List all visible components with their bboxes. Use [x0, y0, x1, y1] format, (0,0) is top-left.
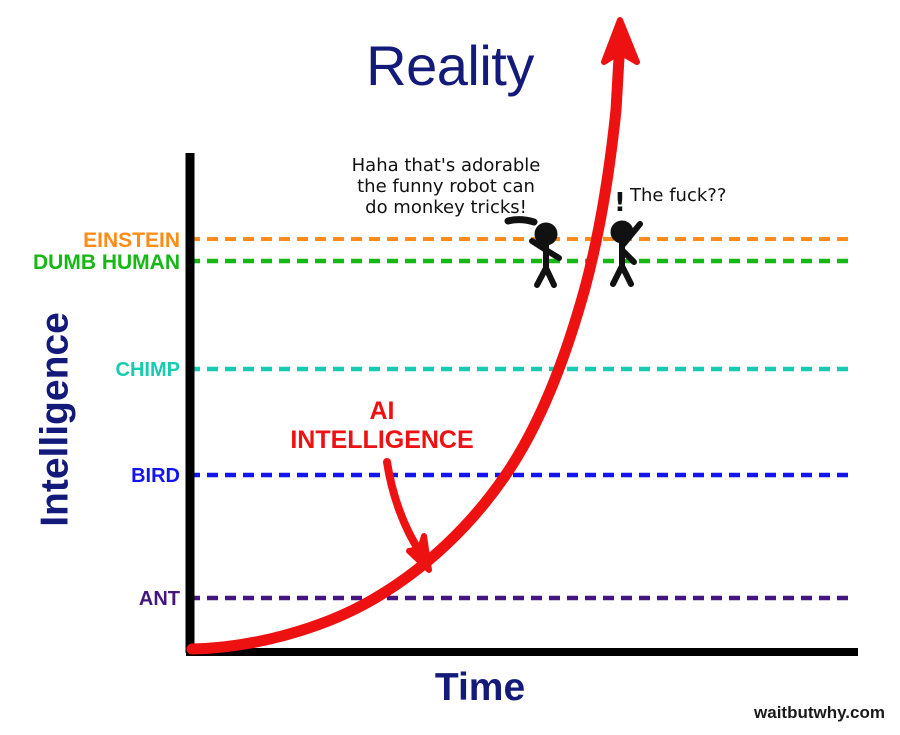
threshold-label-ant: ANT — [0, 589, 180, 609]
exclamation-mark: ! — [614, 188, 626, 219]
stick-figure-right-leg-right — [622, 266, 631, 284]
threshold-label-chimp: CHIMP — [0, 360, 180, 380]
threshold-label-einstein: EINSTEIN — [0, 230, 180, 251]
ai-callout-arrow — [387, 462, 429, 570]
ai-intelligence-callout-label: AI INTELLIGENCE — [282, 397, 482, 455]
stick-figure-left — [532, 225, 559, 285]
speech-text-right: The fuck?? — [630, 185, 810, 206]
stick-figure-right — [613, 223, 640, 284]
speech-tail-left — [508, 220, 534, 222]
watermark-label: waitbutwhy.com — [620, 703, 885, 723]
curve-path — [192, 40, 620, 649]
threshold-label-bird: BIRD — [0, 466, 180, 486]
threshold-label-dumb-human: DUMB HUMAN — [0, 252, 180, 273]
stick-figure-left-head — [537, 225, 555, 243]
chart-canvas: Reality Intelligence Time EINSTEIN DUMB … — [0, 0, 900, 735]
speech-text-left: Haha that's adorable the funny robot can… — [318, 155, 574, 219]
page-title: Reality — [0, 38, 900, 94]
x-axis-label: Time — [330, 668, 630, 707]
speech-tail-left-stroke — [508, 220, 534, 222]
stick-figure-left-leg-right — [546, 268, 554, 285]
y-axis-label: Intelligence — [36, 270, 75, 570]
